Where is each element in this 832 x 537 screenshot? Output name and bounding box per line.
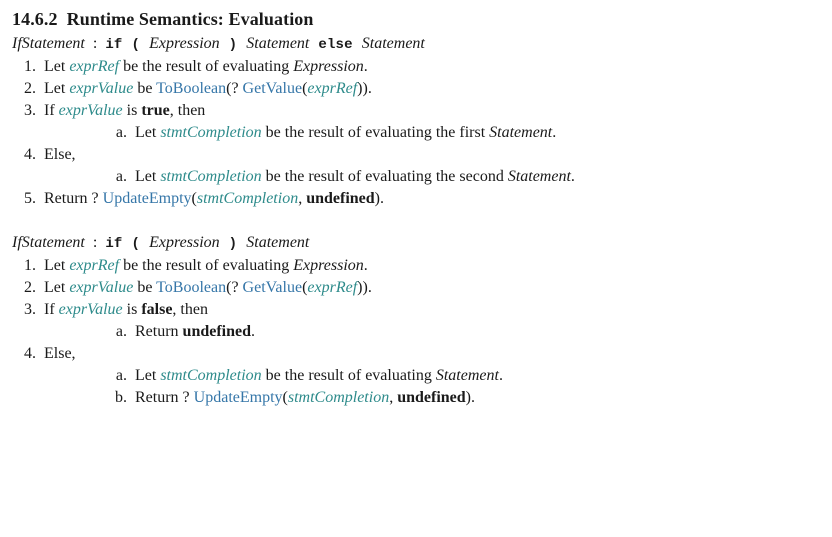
abstract-op-getvalue: GetValue [243,80,303,97]
step-text: Else, [44,345,76,362]
variable-stmtcompletion: stmtCompletion [288,389,389,406]
algorithm-substep: a. Let stmtCompletion be the result of e… [44,166,832,188]
algorithm-step: 2. Let exprValue be ToBoolean(? GetValue… [0,277,832,299]
variable-exprref: exprRef [69,58,119,75]
step-text-lead: Return ? [44,190,103,207]
substep-marker: a. [44,122,127,144]
substep-text-lead: Let [135,124,160,141]
algorithm-step: 2. Let exprValue be ToBoolean(? GetValue… [0,78,832,100]
step-text: Else, [44,146,76,163]
step-text-mid: be [133,80,156,97]
step-text-lead: If [44,102,59,119]
nonterminal-statement-1: Statement [246,35,309,52]
step-text-end: . [364,257,368,274]
nonterminal-statement-2: Statement [362,35,425,52]
variable-stmtcompletion: stmtCompletion [197,190,298,207]
step-text-mid: is [123,301,142,318]
substep-text-mid: be the result of evaluating the second [262,168,508,185]
production-colon: : [89,35,101,52]
nonterminal-statement-1: Statement [246,234,309,251]
step-text-lead: Let [44,279,69,296]
substep-text-lead: Let [135,367,160,384]
terminal-open-paren: ( [132,236,141,252]
step-text-mid: be the result of evaluating [119,257,293,274]
algorithm-step: 3. If exprValue is false, then a. Return… [0,299,832,343]
algorithm-substep: a. Let stmtCompletion be the result of e… [44,365,832,387]
algorithm-substeps: a. Let stmtCompletion be the result of e… [44,365,832,409]
nonterminal-expression: Expression [149,234,220,251]
step-text-end: . [364,58,368,75]
substep-marker: a. [44,321,127,343]
step-text-mid: be the result of evaluating [119,58,293,75]
variable-exprvalue: exprValue [59,301,123,318]
variable-exprref: exprRef [307,279,357,296]
substep-text-lead: Let [135,168,160,185]
substep-marker: a. [44,365,127,387]
grammar-production-1: IfStatement : if ( Expression ) Statemen… [0,33,832,56]
step-text-lead: If [44,301,59,318]
variable-exprref: exprRef [69,257,119,274]
keyword-false: false [141,301,172,318]
step-marker: 3. [0,299,36,321]
variable-stmtcompletion: stmtCompletion [160,124,261,141]
step-text-mid: be [133,279,156,296]
algorithm-step: 4. Else, a. Let stmtCompletion be the re… [0,343,832,409]
step-marker: 4. [0,343,36,365]
clause-title: Runtime Semantics: Evaluation [67,9,314,29]
abstract-op-toboolean: ToBoolean [156,279,226,296]
variable-exprvalue: exprValue [59,102,123,119]
algorithm-substeps: a. Return undefined. [44,321,832,343]
step-marker: 1. [0,56,36,78]
spec-clause-page: 14.6.2Runtime Semantics: Evaluation IfSt… [0,0,832,537]
step-text-mid: is [123,102,142,119]
step-text-end: , then [172,301,208,318]
keyword-undefined: undefined [183,323,251,340]
terminal-if: if [105,37,122,53]
step-text-mid: , [298,190,306,207]
step-marker: 2. [0,78,36,100]
section-spacer [0,210,832,232]
algorithm-substep: a. Let stmtCompletion be the result of e… [44,122,832,144]
step-text-lead: Let [44,80,69,97]
terminal-close-paren: ) [229,236,238,252]
variable-exprvalue: exprValue [69,279,133,296]
algorithm-substeps: a. Let stmtCompletion be the result of e… [44,166,832,188]
variable-exprref: exprRef [307,80,357,97]
terminal-if: if [105,236,122,252]
grammar-production-2: IfStatement : if ( Expression ) Statemen… [0,232,832,255]
nonterminal-expression: Expression [293,257,364,274]
substep-marker: b. [44,387,127,409]
page-title: 14.6.2Runtime Semantics: Evaluation [0,0,832,30]
substep-text-mid: be the result of evaluating [262,367,436,384]
substep-text-lead: Return [135,323,183,340]
algorithm-step: 1. Let exprRef be the result of evaluati… [0,56,832,78]
step-text-end: , then [170,102,206,119]
substep-text-mid: be the result of evaluating the first [262,124,489,141]
substep-text-end: . [499,367,503,384]
terminal-open-paren: ( [132,37,141,53]
substep-text-mid: , [389,389,397,406]
substep-marker: a. [44,166,127,188]
production-lhs: IfStatement [12,35,85,52]
keyword-true: true [141,102,169,119]
abstract-op-updateempty: UpdateEmpty [194,389,283,406]
algorithm-steps-1: 1. Let exprRef be the result of evaluati… [0,56,832,210]
keyword-undefined: undefined [306,190,374,207]
substep-text-lead: Return ? [135,389,194,406]
step-marker: 4. [0,144,36,166]
abstract-op-toboolean: ToBoolean [156,80,226,97]
nonterminal-statement: Statement [436,367,499,384]
step-text-lead: Let [44,257,69,274]
clause-number: 14.6.2 [12,9,58,29]
nonterminal-expression: Expression [293,58,364,75]
substep-text-end: . [552,124,556,141]
variable-stmtcompletion: stmtCompletion [160,168,261,185]
substep-text-end: . [251,323,255,340]
abstract-op-updateempty: UpdateEmpty [103,190,192,207]
terminal-close-paren: ) [229,37,238,53]
step-marker: 1. [0,255,36,277]
substep-text-end: ). [466,389,475,406]
algorithm-substep: a. Return undefined. [44,321,832,343]
step-paren-1: (? [226,80,242,97]
variable-stmtcompletion: stmtCompletion [160,367,261,384]
step-marker: 3. [0,100,36,122]
production-colon: : [89,234,101,251]
terminal-else: else [318,37,352,53]
algorithm-substep: b. Return ? UpdateEmpty(stmtCompletion, … [44,387,832,409]
variable-exprvalue: exprValue [69,80,133,97]
nonterminal-expression: Expression [149,35,220,52]
production-lhs: IfStatement [12,234,85,251]
abstract-op-getvalue: GetValue [243,279,303,296]
substep-text-end: . [571,168,575,185]
nonterminal-statement: Statement [508,168,571,185]
step-text-lead: Let [44,58,69,75]
algorithm-step: 5. Return ? UpdateEmpty(stmtCompletion, … [0,188,832,210]
algorithm-step: 4. Else, a. Let stmtCompletion be the re… [0,144,832,188]
nonterminal-statement: Statement [489,124,552,141]
algorithm-step: 3. If exprValue is true, then a. Let stm… [0,100,832,144]
step-text-end: )). [357,80,372,97]
step-marker: 5. [0,188,36,210]
step-marker: 2. [0,277,36,299]
algorithm-substeps: a. Let stmtCompletion be the result of e… [44,122,832,144]
step-paren-1: (? [226,279,242,296]
step-text-end: ). [375,190,384,207]
keyword-undefined: undefined [397,389,465,406]
algorithm-steps-2: 1. Let exprRef be the result of evaluati… [0,255,832,409]
algorithm-step: 1. Let exprRef be the result of evaluati… [0,255,832,277]
step-text-end: )). [357,279,372,296]
